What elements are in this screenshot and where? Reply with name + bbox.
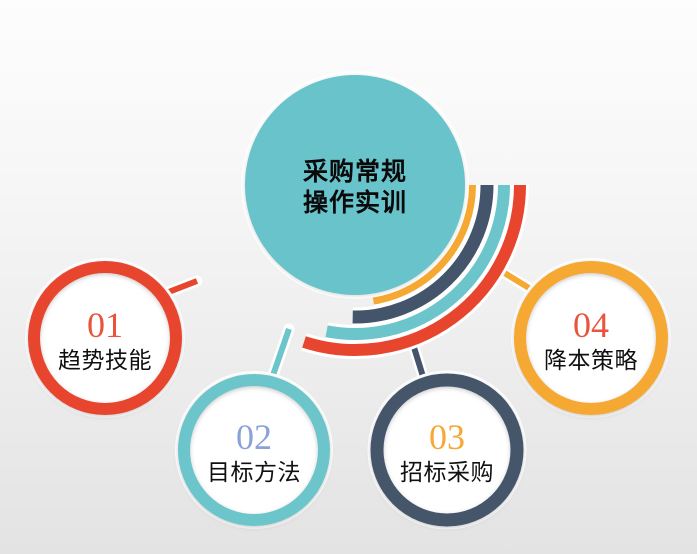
- connector-to-node-02: [271, 329, 289, 381]
- infographic-canvas: 采购常规 操作实训 01 趋势技能 02 目标方法 03 招标采购 04 降本策…: [0, 0, 697, 554]
- hub-circle[interactable]: [245, 75, 465, 295]
- radial-diagram: [0, 0, 697, 554]
- hub-circle-group: [241, 71, 469, 299]
